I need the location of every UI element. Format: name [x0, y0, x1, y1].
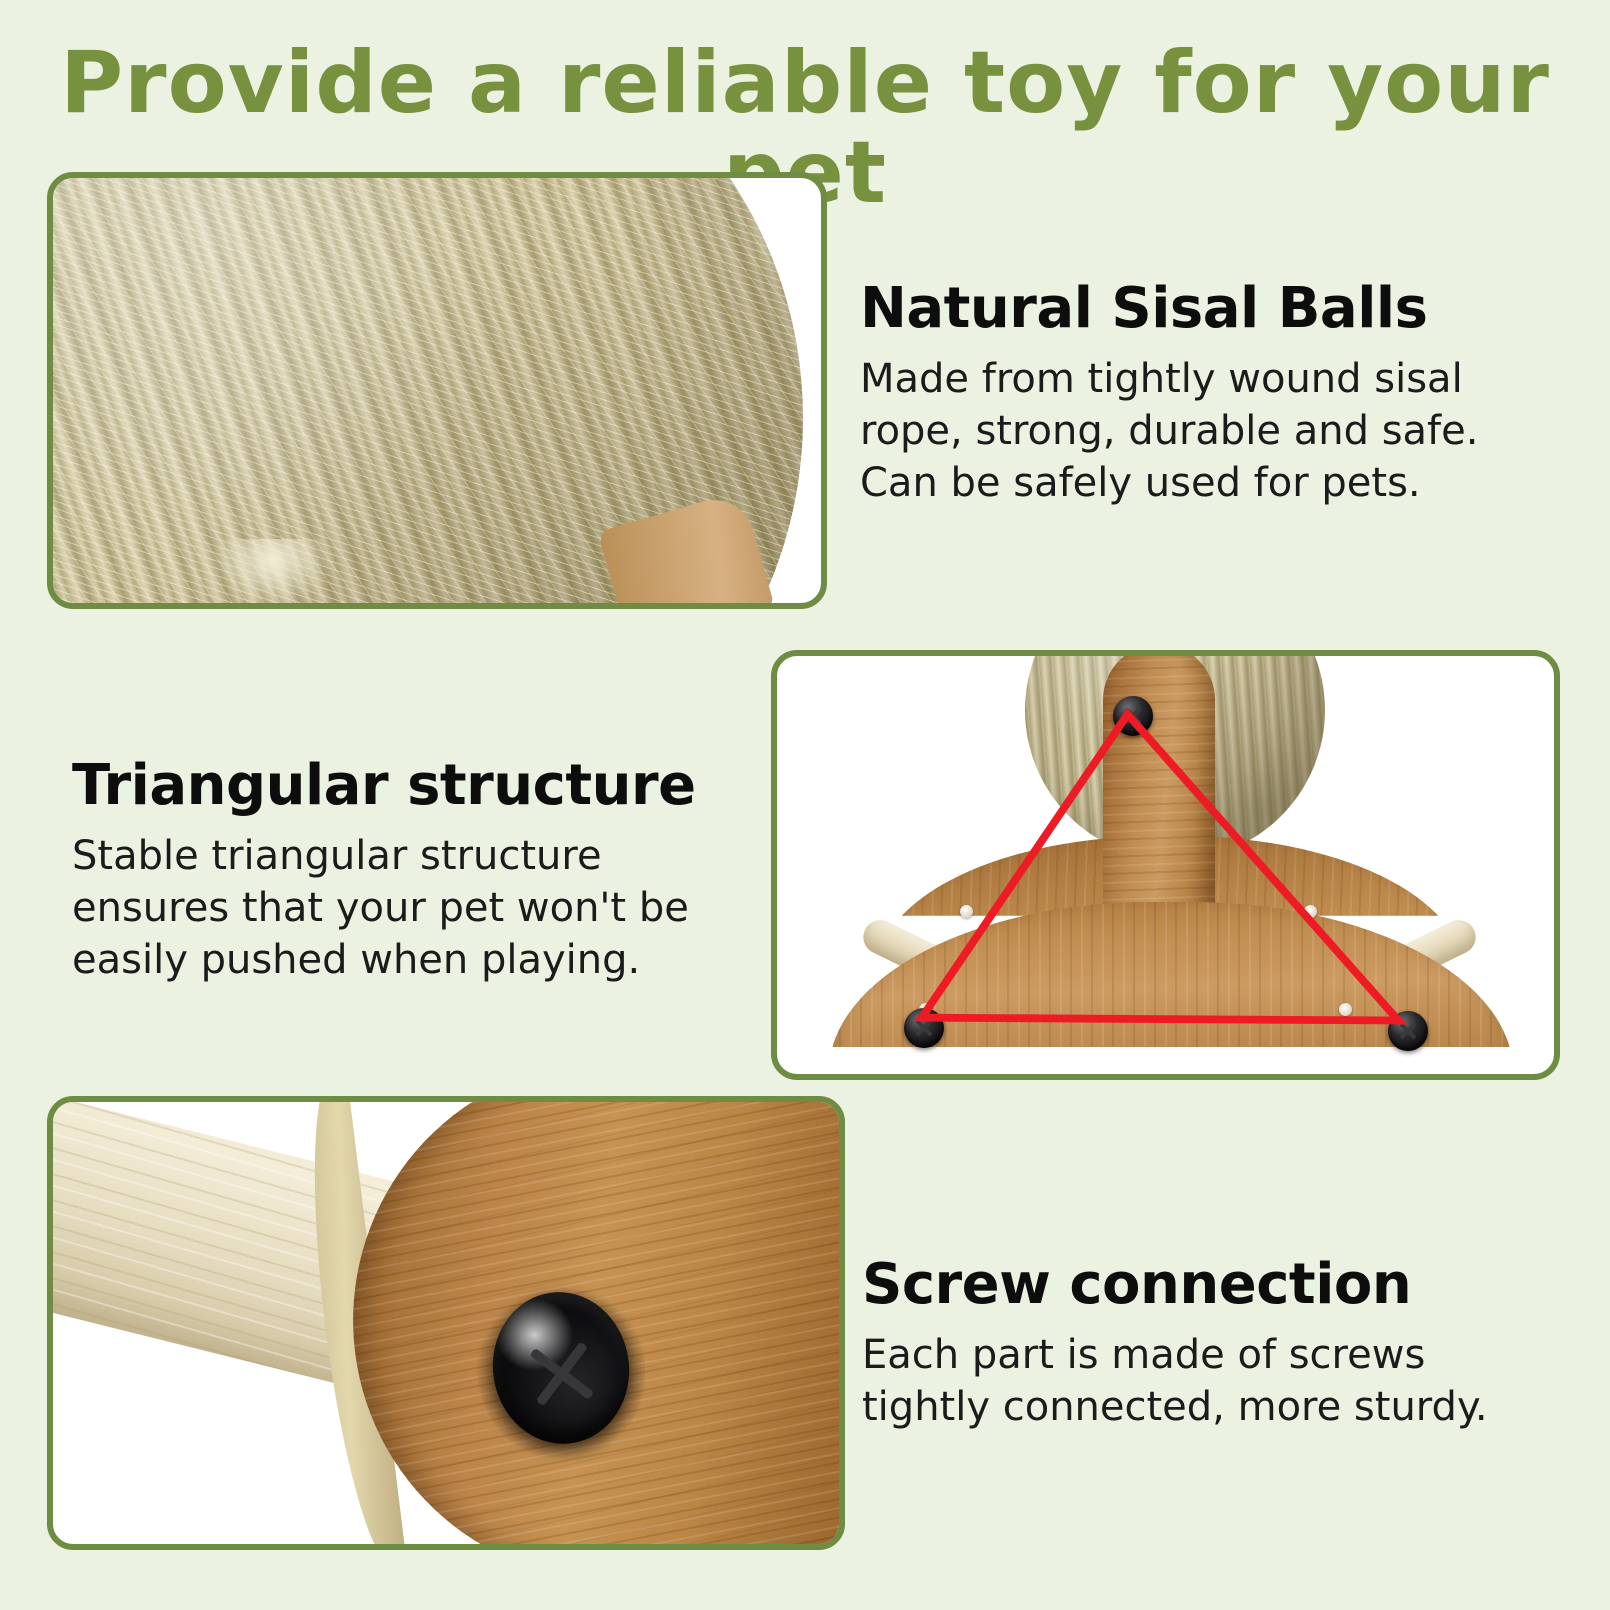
- feature-heading: Triangular structure: [72, 755, 732, 818]
- feature-text-natural-sisal-balls: Natural Sisal Balls Made from tightly wo…: [860, 278, 1550, 509]
- image-panel-screw-connection: [47, 1096, 845, 1550]
- feature-body: Made from tightly wound sisal rope, stro…: [860, 353, 1550, 509]
- screw-joint-photo: [53, 1102, 839, 1544]
- feature-heading: Screw connection: [862, 1254, 1502, 1317]
- feature-text-screw-connection: Screw connection Each part is made of sc…: [862, 1254, 1502, 1433]
- sisal-loose-fiber-tuft: [213, 539, 333, 609]
- feature-body: Each part is made of screws tightly conn…: [862, 1329, 1502, 1433]
- image-panel-natural-sisal-balls: [47, 172, 827, 609]
- feature-text-triangular-structure: Triangular structure Stable triangular s…: [72, 755, 732, 986]
- feature-body: Stable triangular structure ensures that…: [72, 830, 732, 986]
- image-panel-triangular-structure: [771, 650, 1560, 1080]
- feature-heading: Natural Sisal Balls: [860, 278, 1550, 341]
- red-triangle-annotation: [922, 714, 1399, 1020]
- triangle-annotation-overlay: [777, 656, 1554, 1074]
